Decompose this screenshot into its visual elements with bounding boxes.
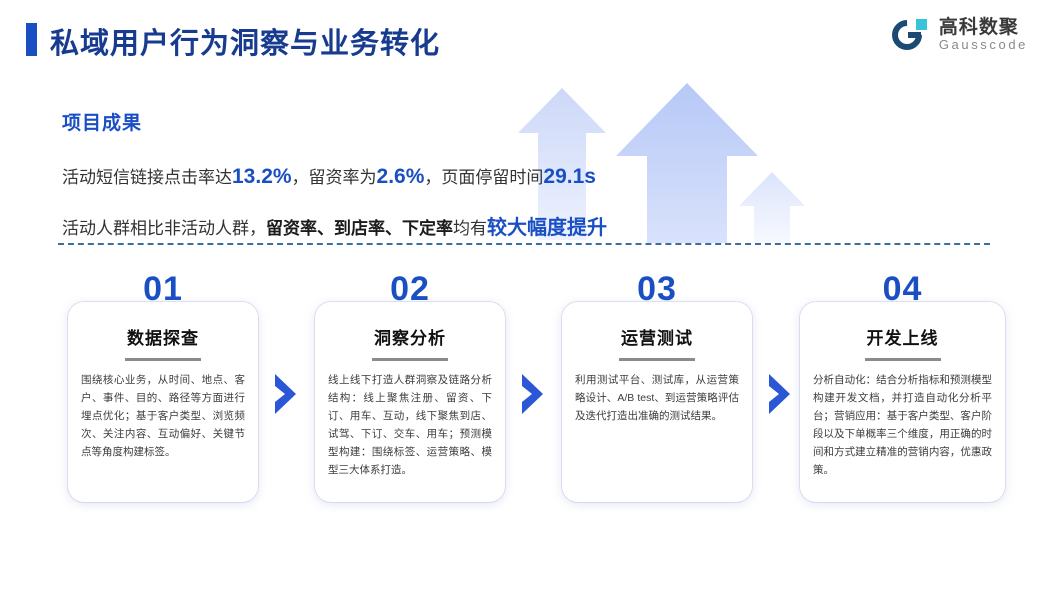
- results-line-2: 活动人群相比非活动人群，留资率、到店率、下定率均有较大幅度提升: [62, 209, 842, 247]
- page-title: 私域用户行为洞察与业务转化: [50, 20, 440, 62]
- results-l1-text-2: ，留资率为: [292, 168, 377, 187]
- results-line-1: 活动短信链接点击率达13.2%，留资率为2.6%，页面停留时间29.1s: [62, 157, 842, 197]
- project-results-block: 项目成果 活动短信链接点击率达13.2%，留资率为2.6%，页面停留时间29.1…: [62, 108, 842, 247]
- results-l1-text-1: 活动短信链接点击率达: [62, 168, 232, 187]
- results-l1-text-3: ，页面停留时间: [424, 168, 543, 187]
- logo-text: 高科数聚 Gausscode: [939, 18, 1028, 52]
- logo-square-shape: [916, 19, 927, 30]
- slide-header: 私域用户行为洞察与业务转化 高科数聚 Gausscode: [0, 0, 1048, 85]
- step-card-3[interactable]: 03 运营测试 利用测试平台、测试库，从运营策略设计、A/B test、到运营策…: [562, 302, 752, 502]
- chevron-right-icon-1: [272, 372, 298, 416]
- step-rule-4: [865, 358, 941, 361]
- step-title-1: 数据探查: [81, 324, 245, 349]
- step-title-2: 洞察分析: [328, 324, 492, 349]
- step-title-4: 开发上线: [813, 324, 992, 349]
- results-metric-leadrate: 2.6%: [377, 165, 425, 188]
- step-card-2[interactable]: 02 洞察分析 线上线下打造人群洞察及链路分析结构：线上聚焦注册、留资、下订、用…: [315, 302, 505, 502]
- logo-bar-shape: [908, 32, 921, 38]
- step-rule-2: [372, 358, 448, 361]
- step-card-body-3[interactable]: 运营测试 利用测试平台、测试库，从运营策略设计、A/B test、到运营策略评估…: [562, 302, 752, 502]
- results-l2-highlight: 较大幅度提升: [487, 217, 607, 239]
- chevron-right-icon-2: [519, 372, 545, 416]
- logo-mark-icon: [892, 16, 930, 54]
- results-metric-ctr: 13.2%: [232, 165, 292, 188]
- step-card-body-2[interactable]: 洞察分析 线上线下打造人群洞察及链路分析结构：线上聚焦注册、留资、下订、用车、互…: [315, 302, 505, 502]
- results-l2-text-2: 均有: [453, 219, 487, 238]
- step-text-2: 线上线下打造人群洞察及链路分析结构：线上聚焦注册、留资、下订、用车、互动，线下聚…: [328, 371, 492, 479]
- step-text-1: 围绕核心业务，从时间、地点、客户、事件、目的、路径等方面进行埋点优化；基于客户类…: [81, 371, 245, 461]
- results-l2-bold-metrics: 留资率、到店率、下定率: [266, 219, 453, 238]
- logo-name-en: Gausscode: [939, 38, 1028, 52]
- step-card-body-1[interactable]: 数据探查 围绕核心业务，从时间、地点、客户、事件、目的、路径等方面进行埋点优化；…: [68, 302, 258, 502]
- results-metric-dwelltime: 29.1s: [543, 165, 596, 188]
- logo-name-cn: 高科数聚: [939, 18, 1028, 38]
- brand-logo: 高科数聚 Gausscode: [892, 16, 1028, 54]
- process-steps: 01 数据探查 围绕核心业务，从时间、地点、客户、事件、目的、路径等方面进行埋点…: [0, 272, 1048, 512]
- chevron-right-icon-3: [766, 372, 792, 416]
- title-accent-bar: [26, 23, 37, 56]
- results-heading: 项目成果: [62, 108, 842, 135]
- step-card-1[interactable]: 01 数据探查 围绕核心业务，从时间、地点、客户、事件、目的、路径等方面进行埋点…: [68, 302, 258, 502]
- results-l2-text-1: 活动人群相比非活动人群，: [62, 219, 266, 238]
- section-divider: [58, 243, 990, 245]
- step-rule-3: [619, 358, 695, 361]
- slide-root: 私域用户行为洞察与业务转化 高科数聚 Gausscode: [0, 0, 1048, 591]
- step-rule-1: [125, 358, 201, 361]
- step-title-3: 运营测试: [575, 324, 739, 349]
- step-text-3: 利用测试平台、测试库，从运营策略设计、A/B test、到运营策略评估及迭代打造…: [575, 371, 739, 425]
- step-card-body-4[interactable]: 开发上线 分析自动化：结合分析指标和预测模型构建开发文档，并打造自动化分析平台；…: [800, 302, 1005, 502]
- step-card-4[interactable]: 04 开发上线 分析自动化：结合分析指标和预测模型构建开发文档，并打造自动化分析…: [800, 302, 1005, 502]
- step-text-4: 分析自动化：结合分析指标和预测模型构建开发文档，并打造自动化分析平台；营销应用：…: [813, 371, 992, 479]
